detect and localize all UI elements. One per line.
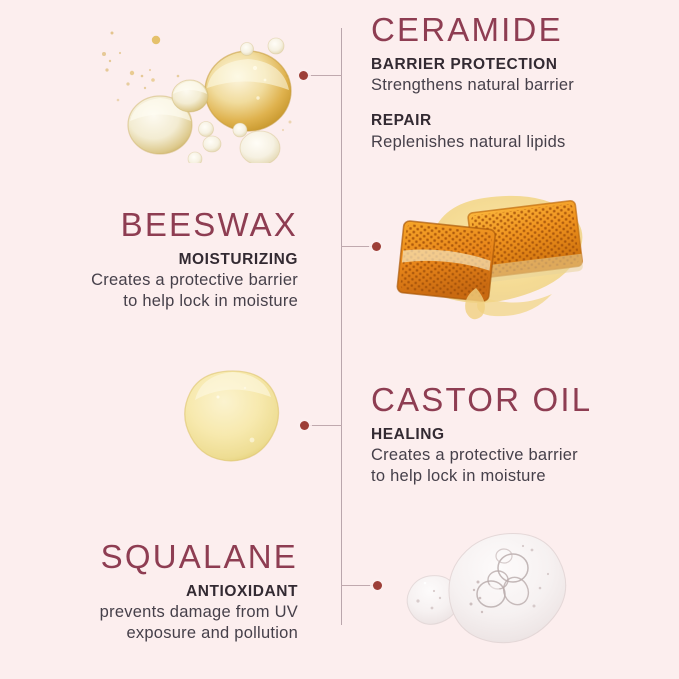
connector-ceramide: [306, 75, 342, 76]
oil-droplets-image: [90, 18, 305, 163]
clear-gel-svg: [392, 528, 572, 656]
node-squalane: [373, 581, 382, 590]
fact-castor-oil-0: HEALING Creates a protective barrier to …: [371, 425, 592, 488]
fact-beeswax-0: MOISTURIZING Creates a protective barrie…: [91, 250, 298, 313]
fact-text-barrier-protection: Strengthens natural barrier: [371, 75, 574, 96]
vertical-divider: [341, 28, 342, 625]
oil-blob-svg: [183, 368, 283, 464]
fact-squalane-0: ANTIOXIDANT prevents damage from UV expo…: [100, 582, 298, 645]
fact-label-barrier-protection: BARRIER PROTECTION: [371, 55, 574, 74]
fact-ceramide-0: BARRIER PROTECTION Strengthens natural b…: [371, 55, 574, 97]
fact-ceramide-1: REPAIR Replenishes natural lipids: [371, 111, 574, 153]
ingredient-beeswax: BEESWAX MOISTURIZING Creates a protectiv…: [91, 208, 298, 313]
oil-blob-image: [183, 368, 283, 464]
oil-droplets-svg: [90, 18, 305, 163]
node-castor-oil: [300, 421, 309, 430]
ingredient-title-squalane: SQUALANE: [100, 540, 298, 575]
node-beeswax: [372, 242, 381, 251]
connector-castor-oil: [307, 425, 342, 426]
ingredient-title-beeswax: BEESWAX: [91, 208, 298, 243]
ingredient-squalane: SQUALANE ANTIOXIDANT prevents damage fro…: [100, 540, 298, 645]
node-ceramide: [299, 71, 308, 80]
fact-label-moisturizing: MOISTURIZING: [91, 250, 298, 269]
fact-label-antioxidant: ANTIOXIDANT: [100, 582, 298, 601]
ingredient-title-castor-oil: CASTOR OIL: [371, 383, 592, 418]
clear-gel-blobs-image: [392, 528, 572, 656]
ingredient-castor-oil: CASTOR OIL HEALING Creates a protective …: [371, 383, 592, 488]
ingredient-title-ceramide: CERAMIDE: [371, 13, 574, 48]
fact-text-healing: Creates a protective barrier to help loc…: [371, 445, 592, 488]
fact-text-antioxidant: prevents damage from UV exposure and pol…: [100, 602, 298, 645]
honeycomb-image: [380, 178, 605, 323]
ingredient-ceramide: CERAMIDE BARRIER PROTECTION Strengthens …: [371, 13, 574, 153]
ingredient-infographic: CERAMIDE BARRIER PROTECTION Strengthens …: [0, 0, 679, 679]
fact-text-moisturizing: Creates a protective barrier to help loc…: [91, 270, 298, 313]
fact-label-healing: HEALING: [371, 425, 592, 444]
fact-label-repair: REPAIR: [371, 111, 574, 130]
fact-text-repair: Replenishes natural lipids: [371, 132, 574, 153]
honeycomb-svg: [380, 178, 605, 323]
